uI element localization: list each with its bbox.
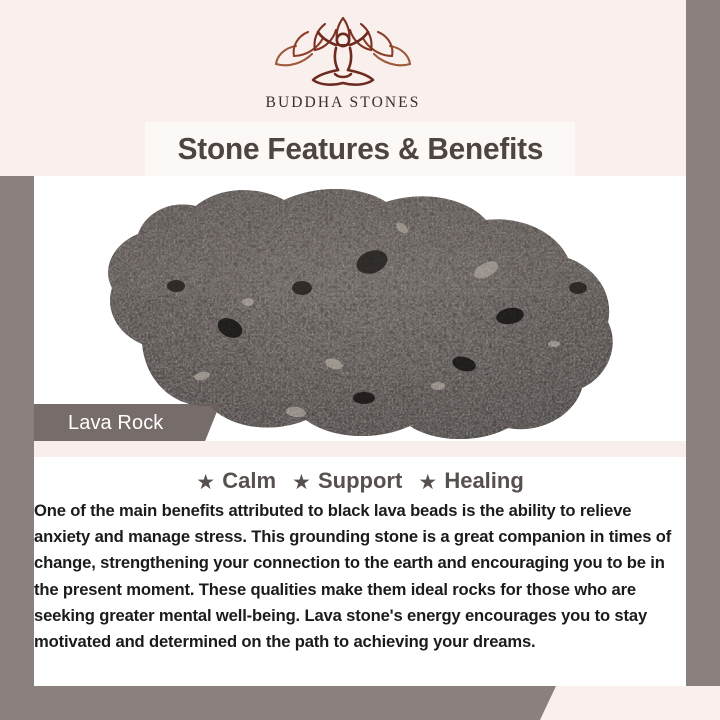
benefit-item: ★ Support: [292, 468, 402, 494]
lotus-meditation-figure-icon: [268, 12, 418, 90]
product-photo: Lava Rock: [34, 176, 686, 441]
bottom-accent-wedge: [540, 686, 720, 720]
benefit-item: ★ Calm: [196, 468, 276, 494]
top-background-plate: BUDDHA STONES Stone Features & Benefits: [0, 0, 686, 176]
benefit-label: Healing: [444, 468, 523, 494]
lava-rock-image: [34, 176, 686, 441]
product-caption: Lava Rock: [68, 412, 163, 435]
section-title-band: Stone Features & Benefits: [145, 122, 575, 176]
benefits-row: ★ Calm ★ Support ★ Healing: [34, 468, 686, 494]
infographic-page: BUDDHA STONES Stone Features & Benefits: [0, 0, 720, 720]
frame-left-border: [0, 176, 34, 720]
frame-right-border: [686, 0, 720, 686]
star-icon: ★: [196, 472, 215, 491]
brand-logo: BUDDHA STONES: [0, 12, 686, 112]
divider-strip: [34, 441, 686, 457]
content-card: Lava Rock ★ Calm ★ Support ★ Healing One…: [34, 176, 686, 686]
brand-name: BUDDHA STONES: [266, 94, 421, 112]
page-title: Stone Features & Benefits: [177, 131, 543, 167]
benefit-item: ★ Healing: [418, 468, 523, 494]
star-icon: ★: [418, 472, 437, 491]
benefit-label: Support: [318, 468, 402, 494]
star-icon: ★: [292, 472, 311, 491]
benefit-label: Calm: [222, 468, 276, 494]
description-paragraph: One of the main benefits attributed to b…: [34, 498, 686, 655]
